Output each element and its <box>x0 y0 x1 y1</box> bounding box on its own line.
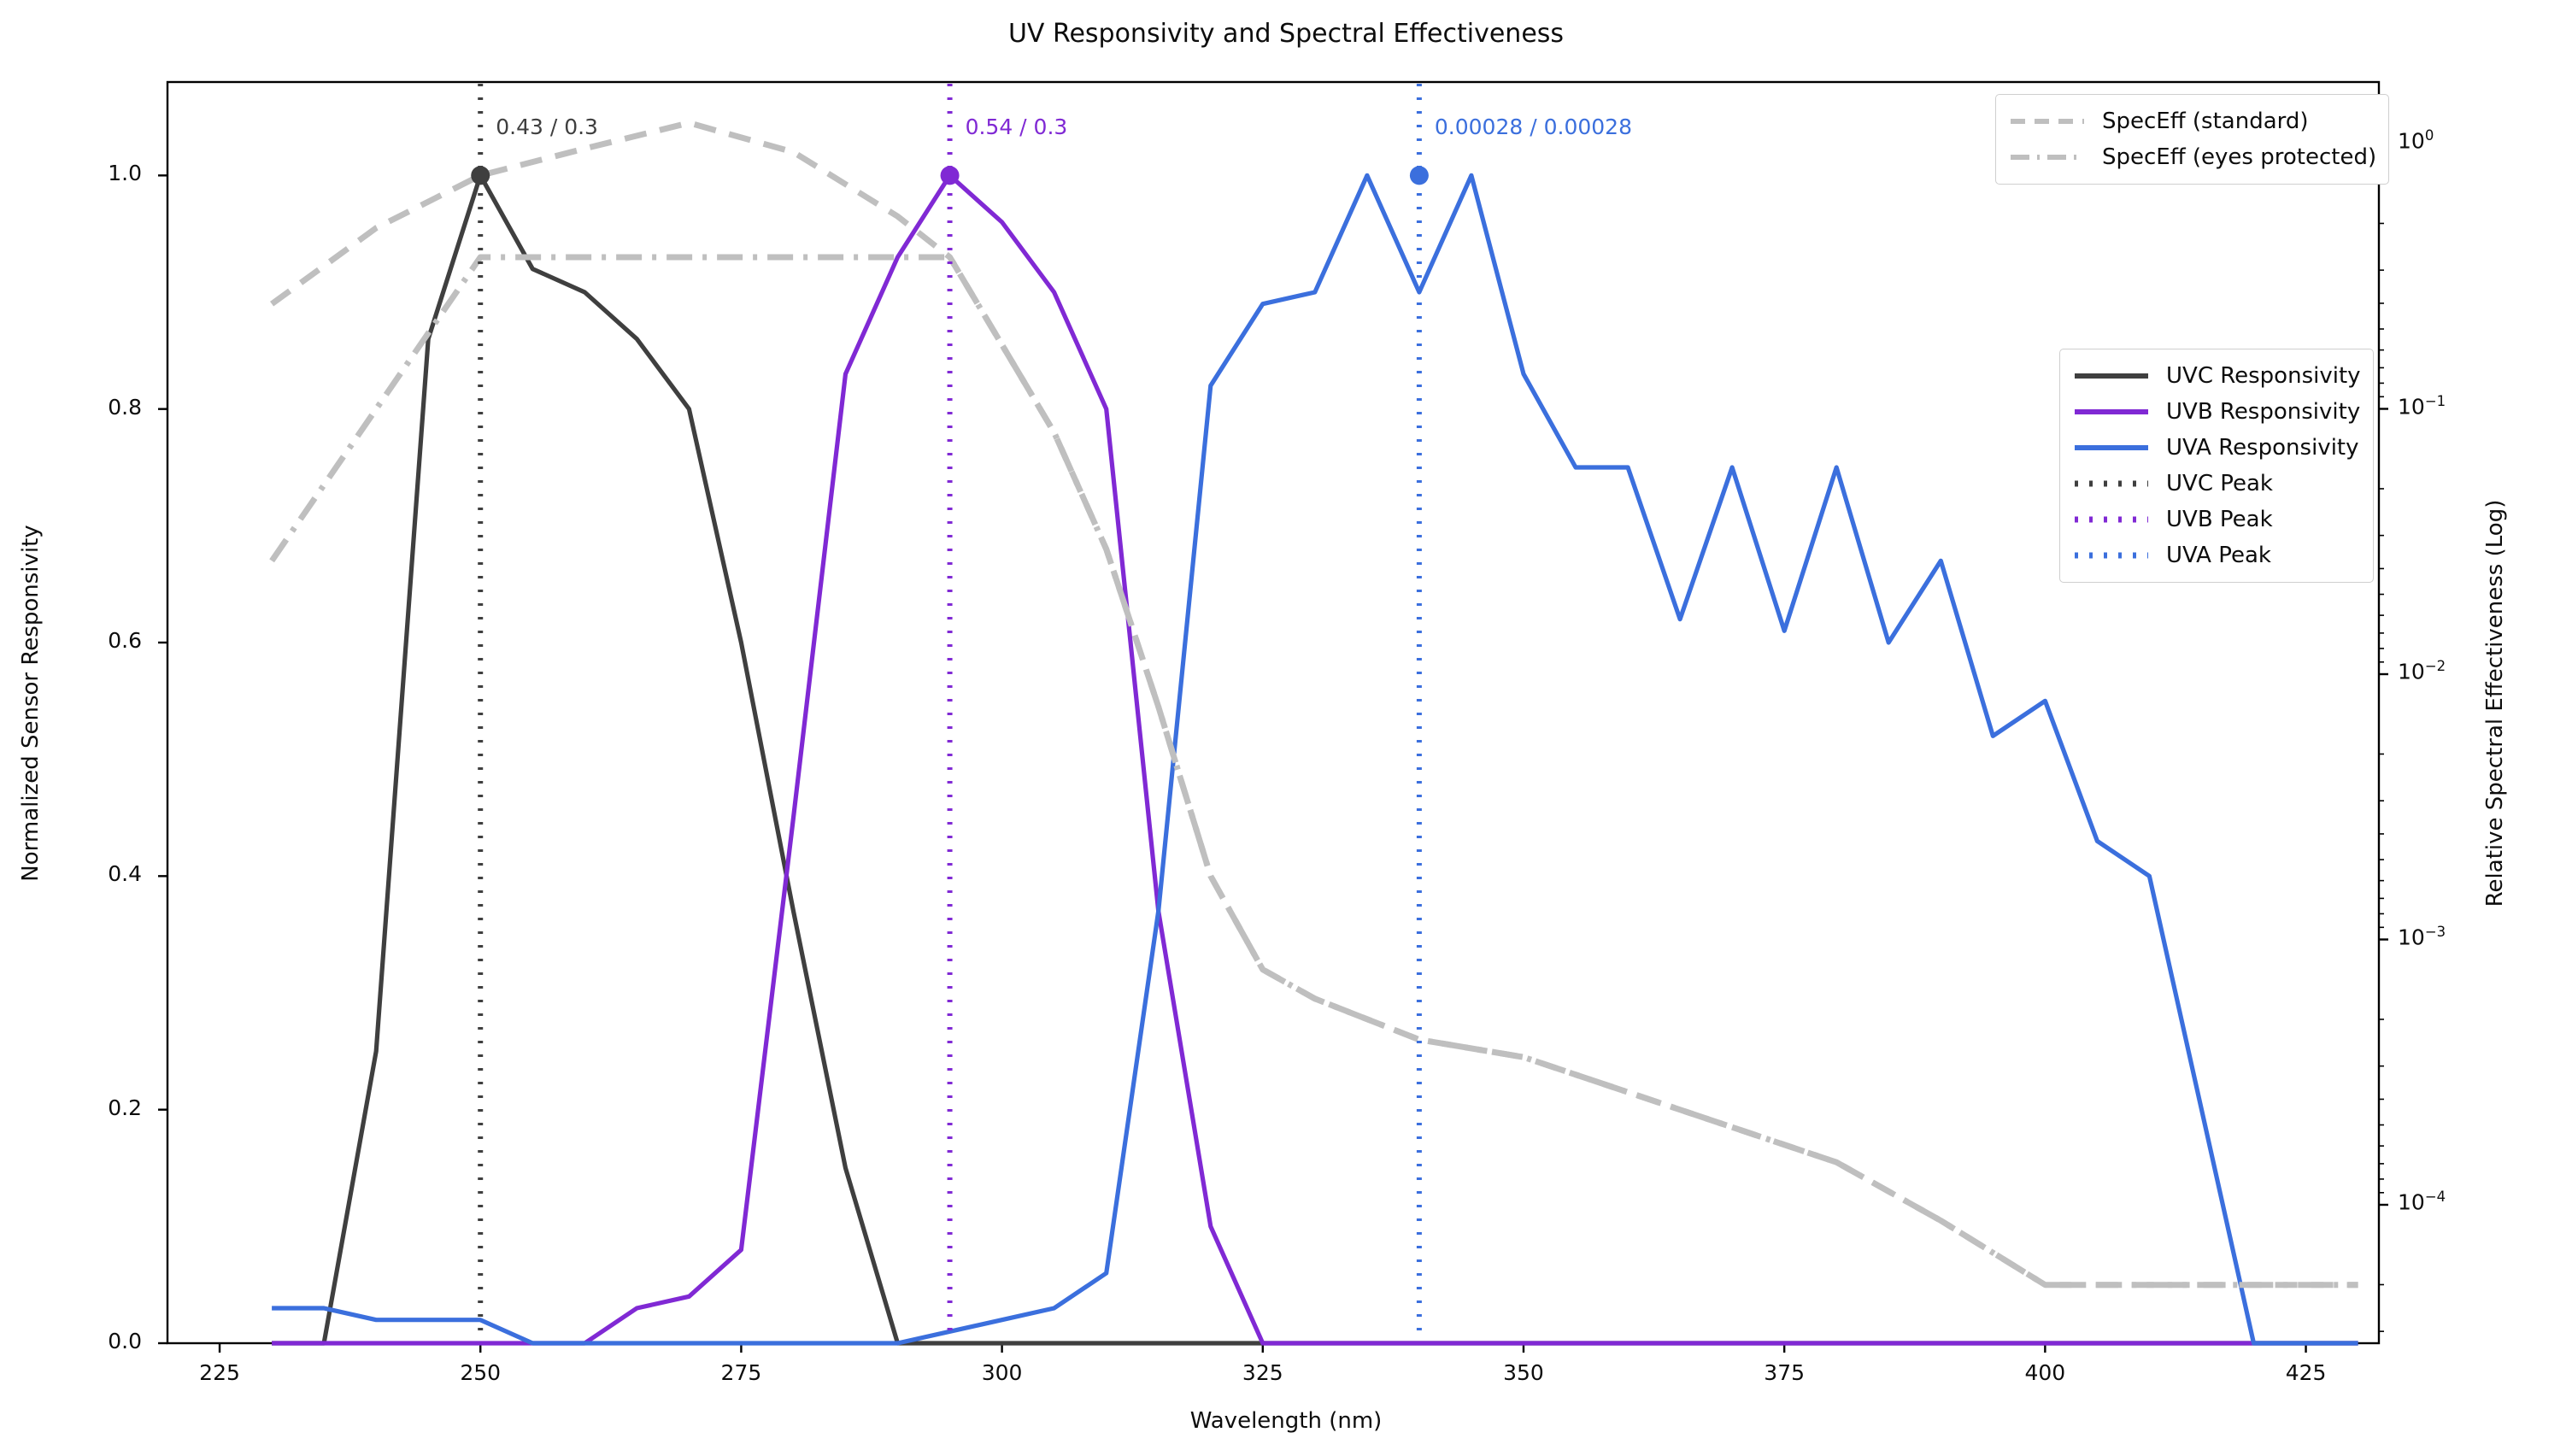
series-line <box>272 175 2358 1343</box>
x-tick-label: 400 <box>1976 1360 2113 1385</box>
legend-item[interactable]: UVB Responsivity <box>2072 394 2361 430</box>
chart-figure: UV Responsivity and Spectral Effectivene… <box>0 0 2572 1456</box>
y2-tick-label: 100 <box>2398 127 2551 153</box>
legend-spectral-effectiveness[interactable]: SpecEff (standard)SpecEff (eyes protecte… <box>1995 94 2389 185</box>
series-line <box>272 175 2358 1343</box>
x-tick-label: 225 <box>151 1360 288 1385</box>
legend-item[interactable]: UVA Responsivity <box>2072 430 2361 466</box>
legend-label: UVA Peak <box>2166 543 2271 568</box>
legend-key-icon <box>2072 511 2151 528</box>
plot-canvas <box>0 0 2572 1456</box>
legend-item[interactable]: UVB Peak <box>2072 502 2361 537</box>
legend-label: UVB Responsivity <box>2166 399 2360 425</box>
legend-swatch <box>2072 547 2151 564</box>
series-line <box>272 175 2358 1343</box>
x-tick-label: 300 <box>934 1360 1071 1385</box>
legend-item[interactable]: UVA Peak <box>2072 537 2361 573</box>
x-tick-label: 375 <box>1716 1360 1853 1385</box>
legend-label: SpecEff (standard) <box>2102 109 2309 134</box>
y2-tick-label: 10−3 <box>2398 924 2551 949</box>
legend-label: UVA Responsivity <box>2166 435 2359 461</box>
x-tick-label: 350 <box>1455 1360 1592 1385</box>
y2-tick-label: 10−1 <box>2398 393 2551 419</box>
legend-swatch <box>2072 511 2151 528</box>
legend-label: UVC Responsivity <box>2166 363 2361 389</box>
legend-swatch <box>2008 149 2087 166</box>
y2-tick-label: 10−2 <box>2398 658 2551 684</box>
legend-label: UVB Peak <box>2166 507 2273 532</box>
x-tick-label: 425 <box>2238 1360 2375 1385</box>
y-tick-label: 1.0 <box>39 161 142 185</box>
x-tick-label: 325 <box>1195 1360 1331 1385</box>
y-tick-label: 0.2 <box>39 1095 142 1120</box>
legend-label: UVC Peak <box>2166 471 2273 496</box>
legend-key-icon <box>2072 367 2151 385</box>
legend-label: SpecEff (eyes protected) <box>2102 144 2376 170</box>
x-tick-label: 250 <box>412 1360 549 1385</box>
y-tick-label: 0.8 <box>39 395 142 420</box>
series-line <box>272 257 2358 1285</box>
legend-swatch <box>2072 403 2151 420</box>
legend-responsivity[interactable]: UVC ResponsivityUVB ResponsivityUVA Resp… <box>2059 349 2374 583</box>
legend-item[interactable]: SpecEff (eyes protected) <box>2008 139 2376 175</box>
y-tick-label: 0.0 <box>39 1329 142 1353</box>
legend-key-icon <box>2072 439 2151 456</box>
legend-swatch <box>2072 367 2151 385</box>
peak-annotation: 0.00028 / 0.00028 <box>1435 114 1632 139</box>
legend-key-icon <box>2008 149 2087 166</box>
peak-annotation: 0.43 / 0.3 <box>496 114 598 139</box>
y2-tick-label: 10−4 <box>2398 1189 2551 1214</box>
legend-item[interactable]: UVC Responsivity <box>2072 358 2361 394</box>
legend-swatch <box>2072 439 2151 456</box>
legend-key-icon <box>2008 113 2087 130</box>
legend-key-icon <box>2072 403 2151 420</box>
y-tick-label: 0.6 <box>39 628 142 653</box>
peak-annotation: 0.54 / 0.3 <box>966 114 1068 139</box>
legend-key-icon <box>2072 475 2151 492</box>
y-tick-label: 0.4 <box>39 861 142 886</box>
peak-marker <box>1410 166 1429 185</box>
peak-marker <box>471 166 490 185</box>
legend-swatch <box>2072 475 2151 492</box>
x-tick-label: 275 <box>672 1360 809 1385</box>
legend-item[interactable]: UVC Peak <box>2072 466 2361 502</box>
peak-marker <box>941 166 960 185</box>
legend-key-icon <box>2072 547 2151 564</box>
legend-item[interactable]: SpecEff (standard) <box>2008 103 2376 139</box>
legend-swatch <box>2008 113 2087 130</box>
